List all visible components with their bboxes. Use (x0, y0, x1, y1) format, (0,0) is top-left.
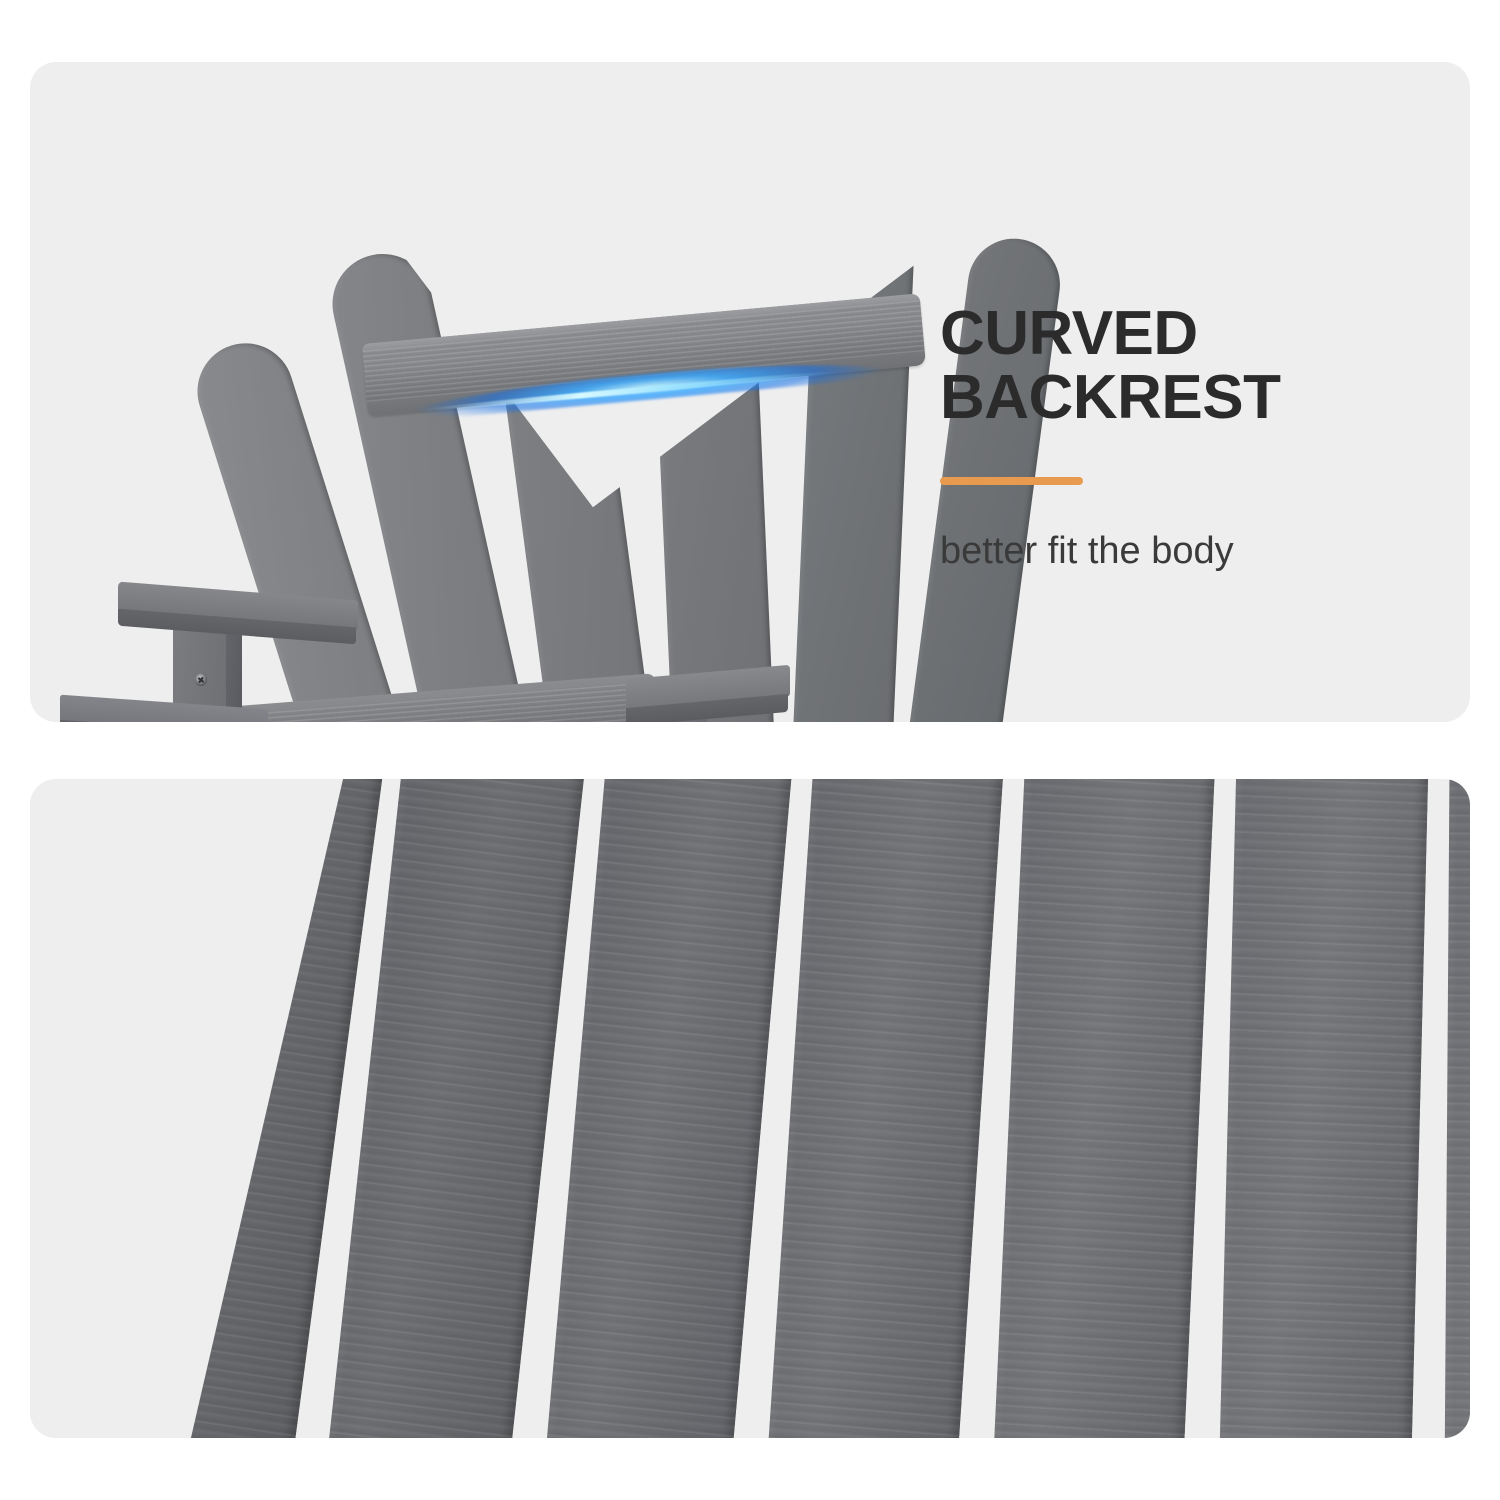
backrest-slat (764, 779, 1008, 1438)
wood-grain-texture (764, 779, 1008, 1438)
feature-copy-block: CURVED BACKREST better fit the body (940, 302, 1460, 575)
feature-headline: CURVED BACKREST (940, 302, 1460, 431)
backrest-slat-group (180, 779, 1470, 1438)
wood-grain-texture (1218, 779, 1430, 1438)
wood-grain-texture (541, 779, 798, 1438)
backrest-slat (541, 779, 798, 1438)
wood-grain-texture (1444, 779, 1470, 1438)
infographic-canvas: CURVED BACKREST better fit the body (0, 0, 1500, 1500)
feature-subline: better fit the body (940, 529, 1460, 575)
feature-panel-curved-backrest: CURVED BACKREST better fit the body (30, 62, 1470, 722)
feature-panel-wide-armrests: WIDE ARMRESTS for better arm relaxation (30, 779, 1470, 1438)
backrest-slat (991, 779, 1218, 1438)
backrest-slat (1444, 779, 1470, 1438)
accent-rule (940, 477, 1083, 485)
backrest-slat (1218, 779, 1430, 1438)
screw-icon (195, 673, 207, 686)
wood-grain-texture (991, 779, 1218, 1438)
product-photo-armrest (30, 779, 1470, 1438)
backrest-corner-mask (316, 124, 386, 194)
